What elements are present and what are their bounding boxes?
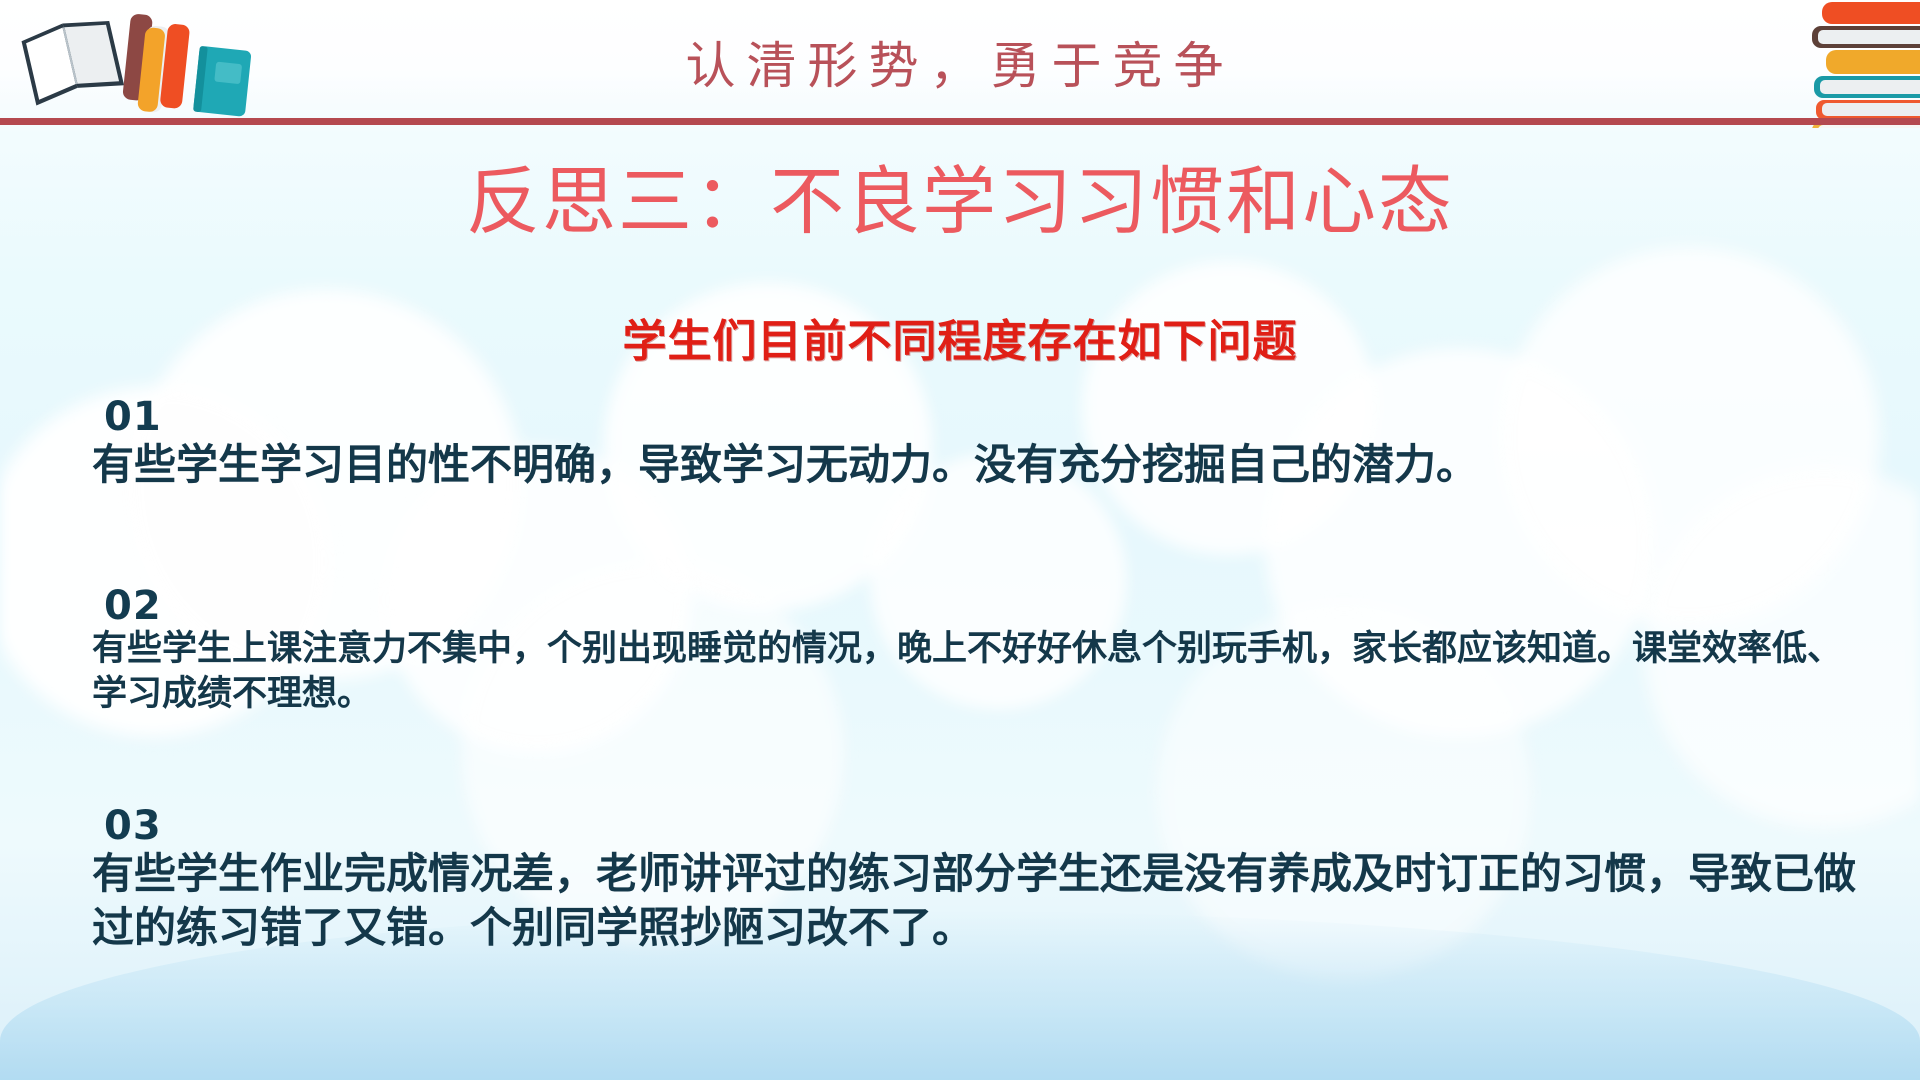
block-text: 有些学生作业完成情况差，老师讲评过的练习部分学生还是没有养成及时订正的习惯，导致… <box>92 847 1860 955</box>
content-block-03: 03 有些学生作业完成情况差，老师讲评过的练习部分学生还是没有养成及时订正的习惯… <box>0 805 1920 955</box>
page-title: 反思三：不良学习习惯和心态 <box>0 142 1920 249</box>
page-subtitle: 学生们目前不同程度存在如下问题 <box>0 305 1920 369</box>
block-text: 有些学生学习目的性不明确，导致学习无动力。没有充分挖掘自己的潜力。 <box>92 438 1860 492</box>
header-band: 认清形势，勇于竞争 <box>0 0 1920 124</box>
block-number: 01 <box>104 396 1920 438</box>
slide-canvas: 认清形势，勇于竞争 反思三：不良学习习惯和心态 学生们目前不同程度存在如下问题 … <box>0 0 1920 1080</box>
content-block-01: 01 有些学生学习目的性不明确，导致学习无动力。没有充分挖掘自己的潜力。 <box>0 396 1920 492</box>
block-text: 有些学生上课注意力不集中，个别出现睡觉的情况，晚上不好好休息个别玩手机，家长都应… <box>92 627 1860 717</box>
block-number: 02 <box>104 585 1920 627</box>
header-divider <box>0 118 1920 125</box>
block-number: 03 <box>104 805 1920 847</box>
header-title: 认清形势，勇于竞争 <box>0 26 1920 98</box>
content-block-02: 02 有些学生上课注意力不集中，个别出现睡觉的情况，晚上不好好休息个别玩手机，家… <box>0 585 1920 717</box>
